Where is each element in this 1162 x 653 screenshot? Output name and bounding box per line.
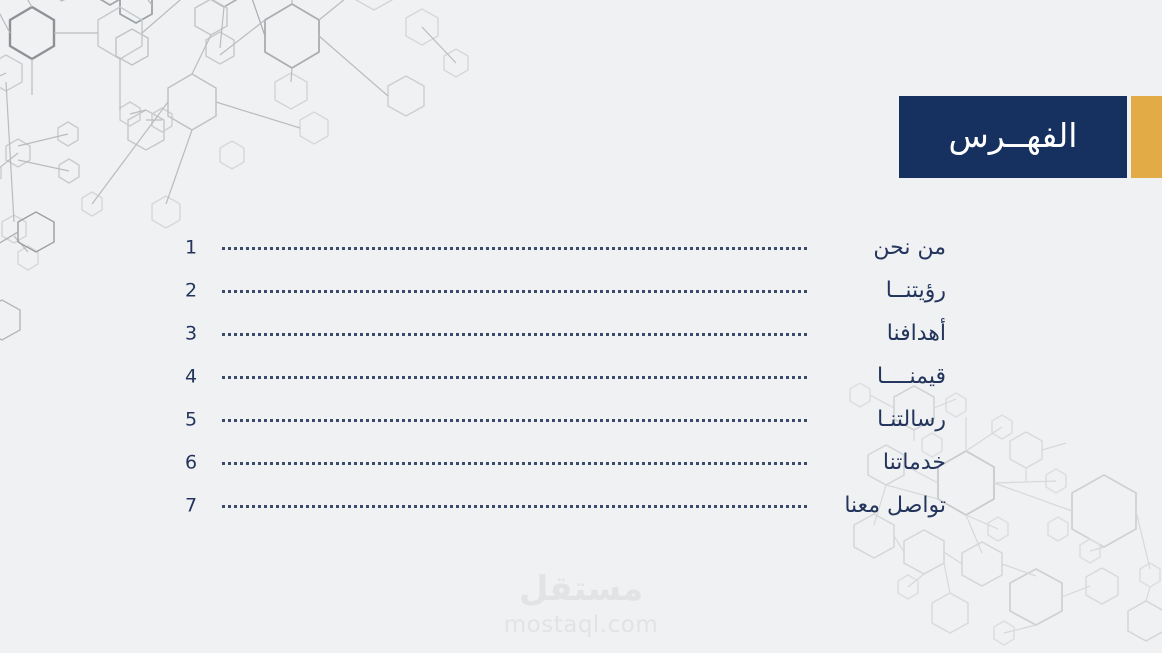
toc-item-label[interactable]: تواصل معنا <box>844 495 946 517</box>
slide-canvas: الفهــرس 1 من نحن 2 رؤيتنــا 3 أهدافنا 4… <box>0 0 1162 653</box>
title-box: الفهــرس <box>899 96 1127 178</box>
toc-leader-dots <box>222 290 808 293</box>
toc-row[interactable]: 5 رسالتنـا <box>0 398 1162 441</box>
toc-item-label[interactable]: رسالتنـا <box>877 409 946 431</box>
toc-item-number: 3 <box>178 324 204 343</box>
accent-bar <box>1131 96 1162 178</box>
toc-item-label[interactable]: رؤيتنــا <box>886 280 946 302</box>
toc-item-number: 4 <box>178 367 204 386</box>
toc-item-label[interactable]: من نحن <box>873 237 946 259</box>
toc-leader-dots <box>222 247 808 250</box>
toc-row[interactable]: 7 تواصل معنا <box>0 484 1162 527</box>
toc-row[interactable]: 3 أهدافنا <box>0 312 1162 355</box>
toc-row[interactable]: 1 من نحن <box>0 226 1162 269</box>
toc-item-label[interactable]: قيمنــــا <box>877 366 946 388</box>
mostaql-domain-text: mostaql.com <box>504 614 659 637</box>
toc-leader-dots <box>222 462 808 465</box>
toc-row[interactable]: 4 قيمنــــا <box>0 355 1162 398</box>
toc-item-label[interactable]: أهدافنا <box>887 323 946 345</box>
toc-leader-dots <box>222 505 808 508</box>
table-of-contents: 1 من نحن 2 رؤيتنــا 3 أهدافنا 4 قيمنــــ… <box>0 226 1162 527</box>
mostaql-watermark: مستقل mostaql.com <box>0 572 1162 637</box>
header-band: الفهــرس <box>0 96 1162 178</box>
toc-item-label[interactable]: خدماتنا <box>883 452 946 474</box>
page-title: الفهــرس <box>949 119 1078 155</box>
toc-item-number: 5 <box>178 410 204 429</box>
toc-item-number: 6 <box>178 453 204 472</box>
toc-leader-dots <box>222 333 808 336</box>
toc-row[interactable]: 6 خدماتنا <box>0 441 1162 484</box>
toc-item-number: 2 <box>178 281 204 300</box>
toc-row[interactable]: 2 رؤيتنــا <box>0 269 1162 312</box>
toc-leader-dots <box>222 376 808 379</box>
mostaql-logo-text: مستقل <box>519 572 643 606</box>
toc-item-number: 1 <box>178 238 204 257</box>
toc-item-number: 7 <box>178 496 204 515</box>
toc-leader-dots <box>222 419 808 422</box>
